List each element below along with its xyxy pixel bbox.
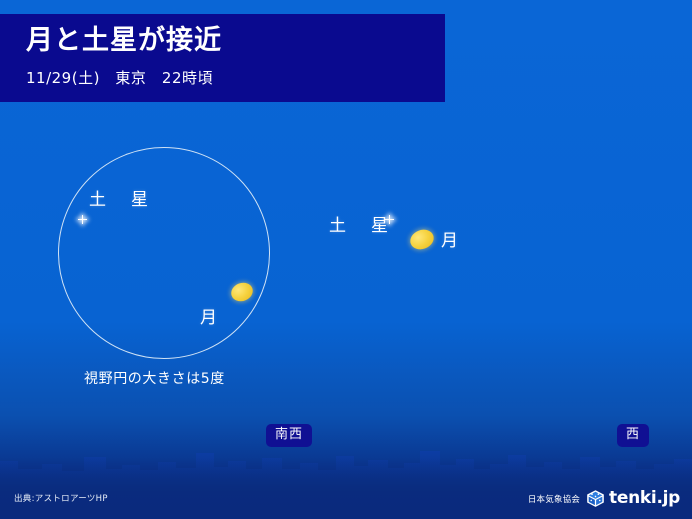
fov-caption: 視野円の大きさは5度 bbox=[84, 368, 225, 388]
weather-association-name: 日本気象協会 bbox=[528, 493, 580, 505]
cube-icon bbox=[586, 489, 605, 508]
tenki-logo: tenki.jp bbox=[586, 489, 680, 508]
source-credit: 出典:アストロアーツHP bbox=[14, 492, 108, 504]
moon-label-circle: 月 bbox=[200, 303, 217, 328]
title-banner: 月と土星が接近 11/29(土) 東京 22時頃 bbox=[0, 14, 445, 102]
page-subtitle: 11/29(土) 東京 22時頃 bbox=[26, 67, 445, 89]
sky-chart-infographic: 月と土星が接近 11/29(土) 東京 22時頃 土 星 月 視野円の大きさは5… bbox=[0, 0, 692, 519]
field-of-view-circle bbox=[58, 147, 270, 359]
footer-brand: 日本気象協会 tenki.jp bbox=[528, 489, 680, 508]
page-title: 月と土星が接近 bbox=[26, 24, 445, 58]
moon-icon bbox=[407, 226, 436, 252]
moon-label-sky: 月 bbox=[441, 226, 458, 251]
saturn-label-sky: 土 星 bbox=[329, 211, 392, 236]
tenki-wordmark: tenki.jp bbox=[609, 490, 680, 507]
saturn-label-circle: 土 星 bbox=[89, 185, 152, 210]
